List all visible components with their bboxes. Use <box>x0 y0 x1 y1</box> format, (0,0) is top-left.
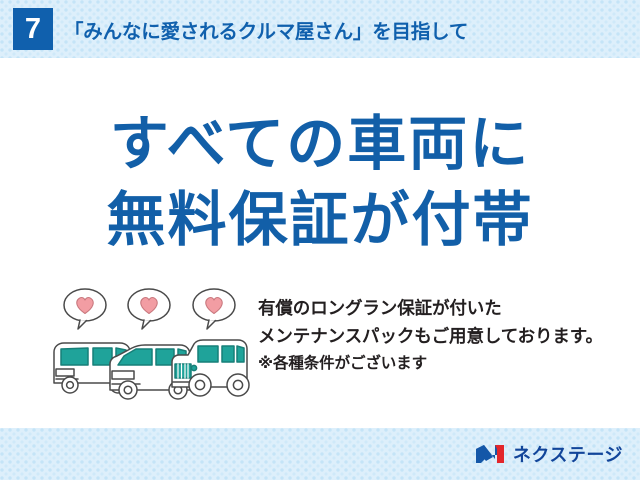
headline: すべての車両に 無料保証が付帯 <box>0 107 640 258</box>
headline-line-1: すべての車両に <box>0 107 640 183</box>
heart-bubble-3 <box>193 289 235 329</box>
lower-row: 有償のロングラン保証が付いた メンテナンスパックもご用意しております。 ※各種条… <box>0 286 640 416</box>
copy-line-2: メンテナンスパックもご用意しております。 <box>258 322 630 350</box>
section-number-badge: 7 <box>13 8 53 50</box>
heart-bubble-1 <box>64 289 106 329</box>
copy-line-1: 有償のロングラン保証が付いた <box>258 294 630 322</box>
footer-band: ネクステージ <box>0 428 640 480</box>
cars-illustration-svg <box>48 286 253 406</box>
header-band: 7 「みんなに愛されるクルマ屋さん」を目指して <box>0 0 640 58</box>
advertisement-banner: 7 「みんなに愛されるクルマ屋さん」を目指して すべての車両に 無料保証が付帯 <box>0 0 640 480</box>
brand-name: ネクステージ <box>513 441 623 467</box>
brand-logo: ネクステージ <box>475 442 623 466</box>
cars-illustration <box>48 286 253 406</box>
headline-line-2: 無料保証が付帯 <box>0 183 640 259</box>
copy-note: ※各種条件がございます <box>258 351 630 377</box>
nextage-n-icon <box>475 443 505 465</box>
header-title: 「みんなに愛されるクルマ屋さん」を目指して <box>64 15 468 44</box>
heart-bubble-2 <box>128 289 170 329</box>
supporting-copy: 有償のロングラン保証が付いた メンテナンスパックもご用意しております。 ※各種条… <box>258 294 630 377</box>
main-content: すべての車両に 無料保証が付帯 <box>0 58 640 428</box>
